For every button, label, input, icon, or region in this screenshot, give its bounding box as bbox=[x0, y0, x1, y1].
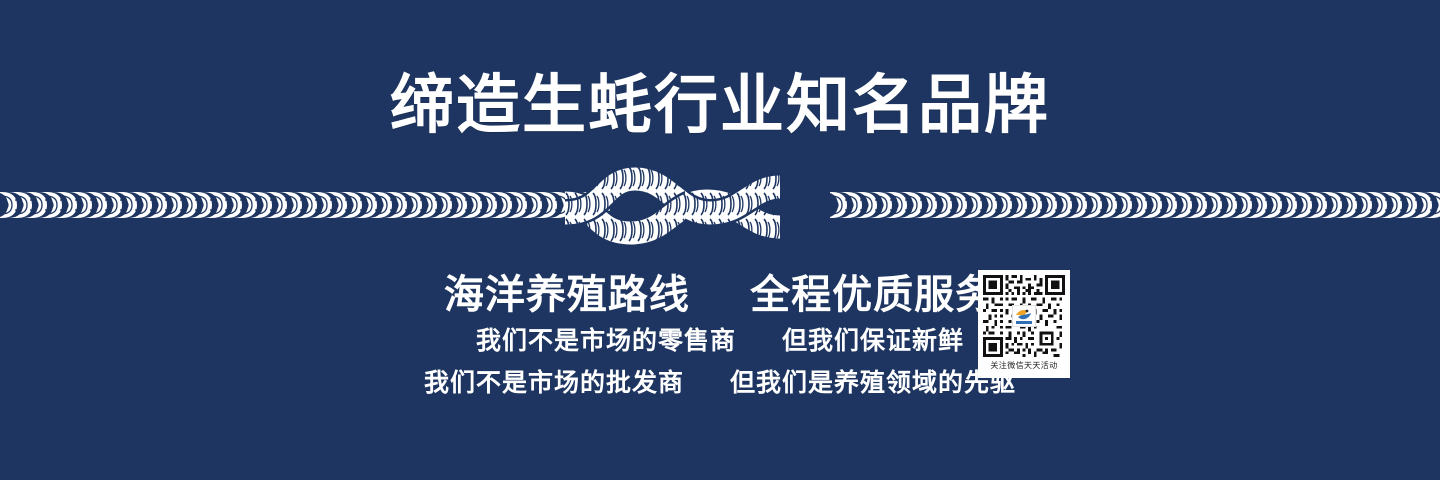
qr-card[interactable]: 关注微信天天活动 bbox=[978, 270, 1070, 378]
body-line-1-left: 我们不是市场的零售商 bbox=[476, 327, 736, 355]
rope-strand-icon bbox=[0, 191, 610, 219]
subheading-right: 全程优质服务 bbox=[750, 273, 996, 317]
rope-knot-divider bbox=[0, 165, 1440, 250]
subheading-left: 海洋养殖路线 bbox=[444, 273, 690, 317]
promo-banner: 缔造生蚝行业知名品牌 bbox=[0, 0, 1440, 480]
body-line-2: 我们不是市场的批发商 但我们是养殖领域的先驱 bbox=[0, 362, 1440, 404]
body-line-1: 我们不是市场的零售商 但我们保证新鲜 bbox=[0, 320, 1440, 362]
knot-icon bbox=[565, 165, 780, 250]
body-copy: 我们不是市场的零售商 但我们保证新鲜 我们不是市场的批发商 但我们是养殖领域的先… bbox=[0, 320, 1440, 404]
body-line-2-left: 我们不是市场的批发商 bbox=[424, 369, 684, 397]
body-line-2-right: 但我们是养殖领域的先驱 bbox=[730, 369, 1016, 397]
body-line-1-right: 但我们保证新鲜 bbox=[782, 327, 964, 355]
rope-segment-left bbox=[0, 191, 610, 219]
rope-segment-right bbox=[830, 191, 1440, 219]
rope-strand-icon bbox=[830, 191, 1440, 219]
brand-logo-icon bbox=[1013, 306, 1035, 326]
subheading: 海洋养殖路线 全程优质服务 bbox=[0, 262, 1440, 320]
qr-center-logo bbox=[1012, 305, 1036, 327]
qr-code-icon[interactable] bbox=[983, 275, 1065, 357]
qr-caption: 关注微信天天活动 bbox=[990, 359, 1057, 372]
page-title: 缔造生蚝行业知名品牌 bbox=[0, 72, 1440, 139]
